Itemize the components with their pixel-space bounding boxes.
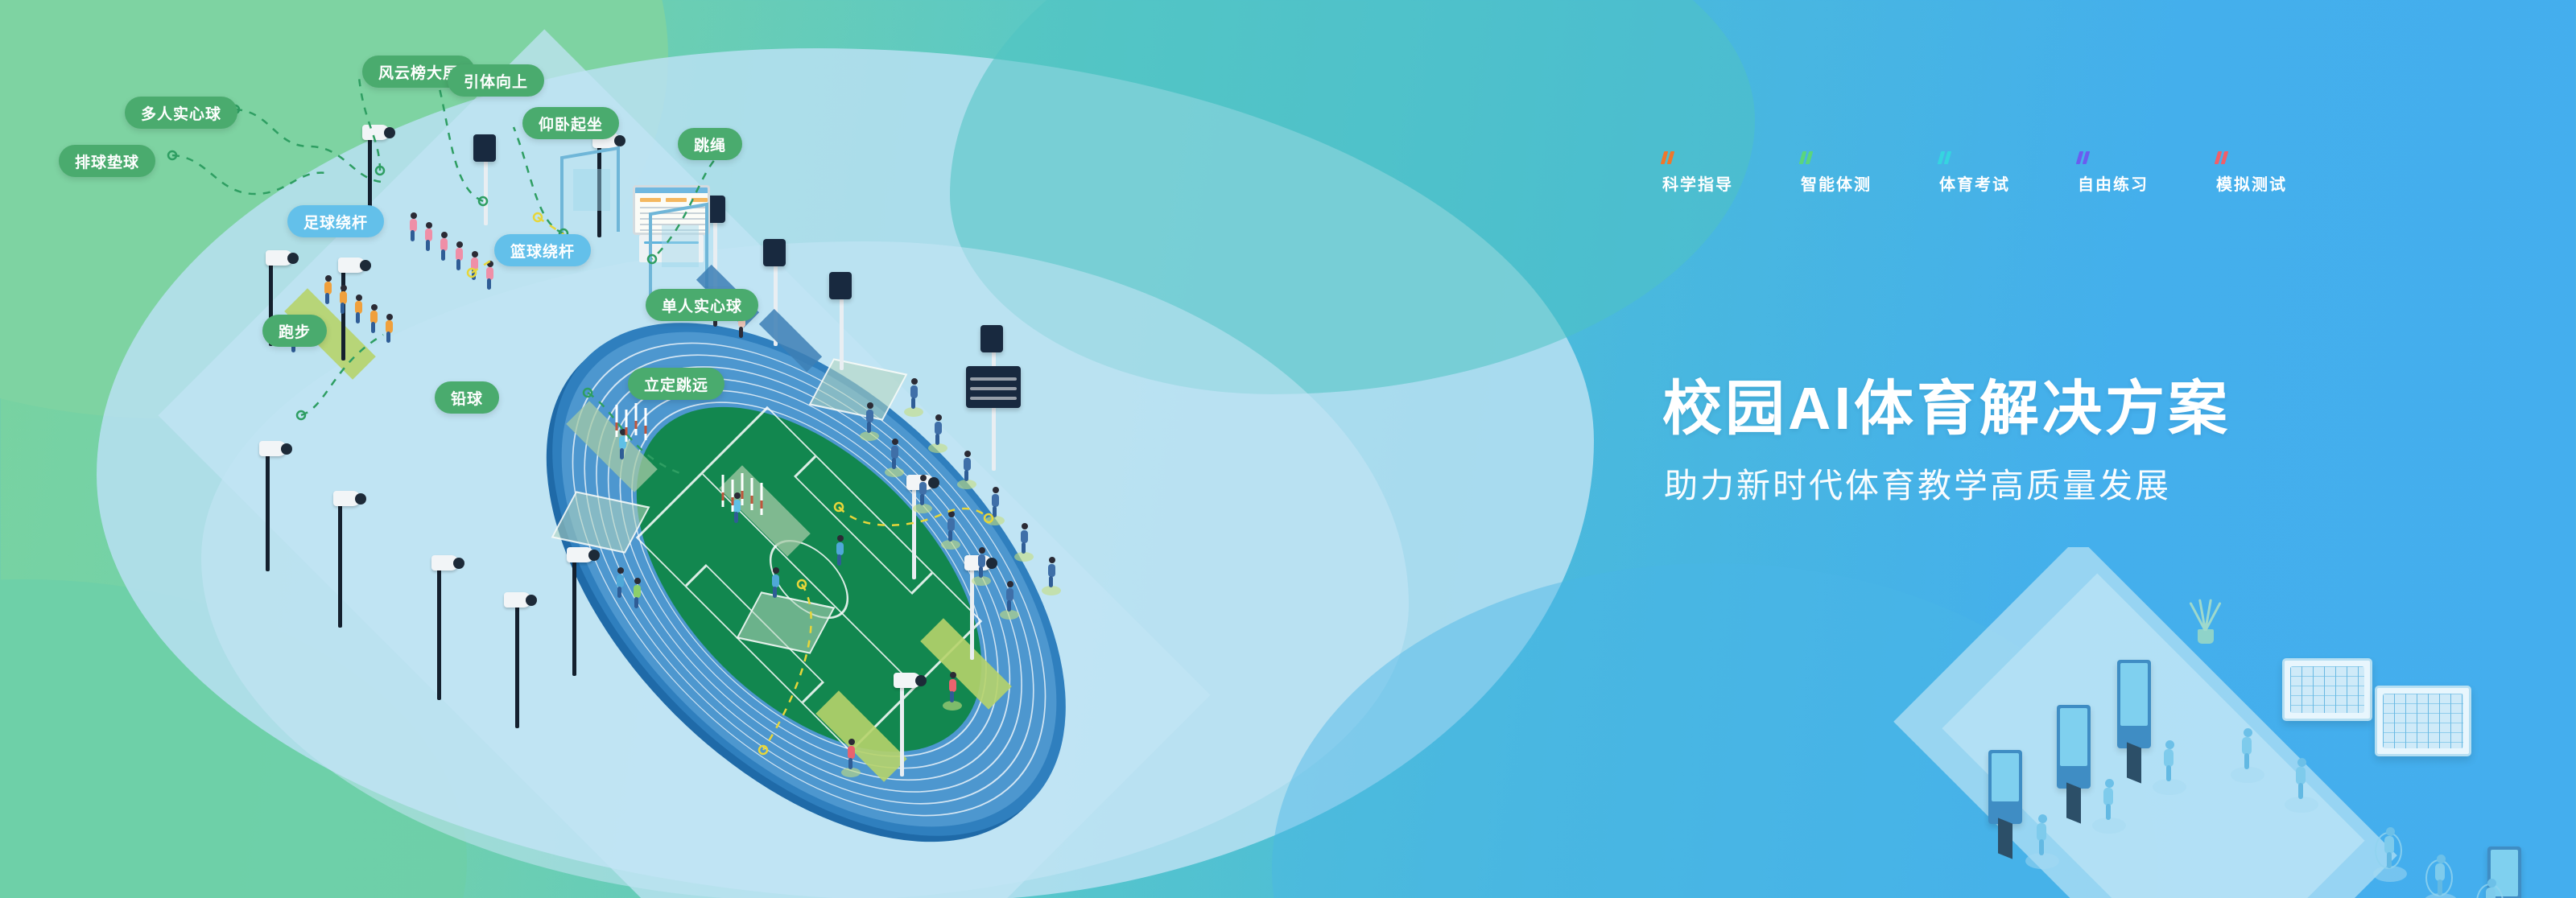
score-display-board — [966, 366, 1021, 408]
stadium-illustration — [0, 0, 1610, 898]
double-slash-icon — [1939, 151, 2010, 164]
gym-kiosk-screen — [1992, 753, 2019, 801]
gym-dashboard-chart — [2383, 694, 2463, 748]
camera-icon — [362, 125, 390, 140]
sensor-box — [980, 325, 1003, 352]
illustration-label-pill[interactable]: 跑步 — [262, 315, 327, 347]
double-slash-icon — [1801, 151, 1872, 164]
gym-kiosk-display — [2057, 705, 2091, 789]
leaderboard-line — [640, 224, 708, 225]
illustration-label-pill[interactable]: 排球垫球 — [59, 145, 155, 177]
gym-illustration — [1843, 547, 2576, 898]
leaderboard-cell — [666, 198, 687, 202]
connector-line-multi-shotput — [232, 105, 385, 193]
double-slash-icon — [2078, 151, 2149, 164]
leaderboard-cell — [691, 198, 708, 202]
score-row — [970, 377, 1016, 381]
feature-item[interactable]: 体育考试 — [1939, 151, 2010, 195]
camera-icon — [504, 592, 531, 608]
gym-kiosk-screen — [2120, 663, 2148, 726]
feature-item[interactable]: 自由练习 — [2078, 151, 2149, 195]
floodlight-pole — [912, 483, 916, 579]
plant-pot — [2198, 629, 2214, 644]
camera-icon — [266, 250, 293, 266]
illustration-label-pill[interactable]: 仰卧起坐 — [522, 107, 619, 139]
illustration-label-pill[interactable]: 多人实心球 — [125, 97, 237, 129]
score-row — [970, 397, 1016, 400]
camera-pole — [368, 131, 372, 212]
camera-icon — [338, 257, 365, 273]
feature-label: 智能体测 — [1801, 171, 1872, 195]
leaderboard-line — [640, 229, 708, 231]
feature-item[interactable]: 智能体测 — [1801, 151, 1872, 195]
feature-label: 科学指导 — [1662, 171, 1733, 195]
leaderboard-header-bar — [635, 187, 708, 193]
feature-label: 自由练习 — [2078, 171, 2149, 195]
leaderboard-cell — [640, 198, 661, 202]
gym-plant — [2188, 595, 2223, 644]
gym-kiosk-base — [1998, 818, 2013, 859]
feature-item[interactable]: 模拟测试 — [2216, 151, 2287, 195]
camera-icon — [431, 555, 459, 571]
feature-item[interactable]: 科学指导 — [1662, 151, 1733, 195]
floodlight-pole — [266, 451, 270, 571]
gym-kiosk-base — [2127, 742, 2141, 783]
feature-label: 体育考试 — [1939, 171, 2010, 195]
feature-label: 模拟测试 — [2216, 171, 2287, 195]
leaderboard-line — [640, 207, 708, 208]
illustration-label-pill[interactable]: 立定跳远 — [628, 368, 724, 400]
gym-kiosk-screen — [2060, 708, 2087, 766]
illustration-label-pill[interactable]: 单人实心球 — [646, 289, 758, 321]
page-subtitle: 助力新时代体育教学高质量发展 — [1664, 459, 2171, 508]
camera-icon — [894, 673, 921, 688]
floodlight-pole — [437, 563, 441, 700]
illustration-label-pill[interactable]: 跳绳 — [678, 128, 742, 160]
floodlight-pole — [572, 555, 576, 676]
floodlight-pole — [515, 599, 519, 728]
illustration-label-pill[interactable]: 铅球 — [435, 381, 499, 414]
sensor-box — [763, 239, 786, 266]
score-row — [970, 387, 1016, 390]
gym-screen-chart — [2290, 666, 2364, 713]
double-slash-icon — [2216, 151, 2287, 164]
gym-dashboard-screen — [2375, 686, 2471, 756]
gym-wall-screen — [2282, 658, 2372, 721]
double-slash-icon — [1662, 151, 1733, 164]
leaderboard-screen — [633, 185, 710, 235]
illustration-label-pill[interactable]: 篮球绕杆 — [494, 234, 591, 266]
sensor-box — [473, 134, 496, 162]
leaderboard-line — [640, 218, 708, 220]
illustration-label-pill[interactable]: 足球绕杆 — [287, 205, 384, 237]
camera-icon — [259, 441, 287, 456]
gym-kiosk-base — [2066, 782, 2081, 823]
illustration-label-pill[interactable]: 引体向上 — [448, 64, 544, 97]
leaderboard-line — [640, 212, 708, 214]
gym-kiosk-display — [1988, 750, 2022, 824]
camera-pole — [597, 141, 601, 237]
floodlight-pole — [338, 499, 342, 628]
sensor-box — [829, 272, 852, 299]
page-title: 校园AI体育解决方案 — [1662, 360, 2231, 447]
leaderboard-kiosk — [633, 185, 710, 262]
gym-kiosk-display — [2117, 660, 2151, 748]
camera-icon — [333, 491, 361, 506]
feature-list: 科学指导智能体测体育考试自由练习模拟测试 — [1662, 151, 2287, 195]
camera-icon — [567, 547, 594, 562]
floodlight-pole — [900, 680, 904, 776]
leaderboard-stand — [639, 235, 704, 262]
